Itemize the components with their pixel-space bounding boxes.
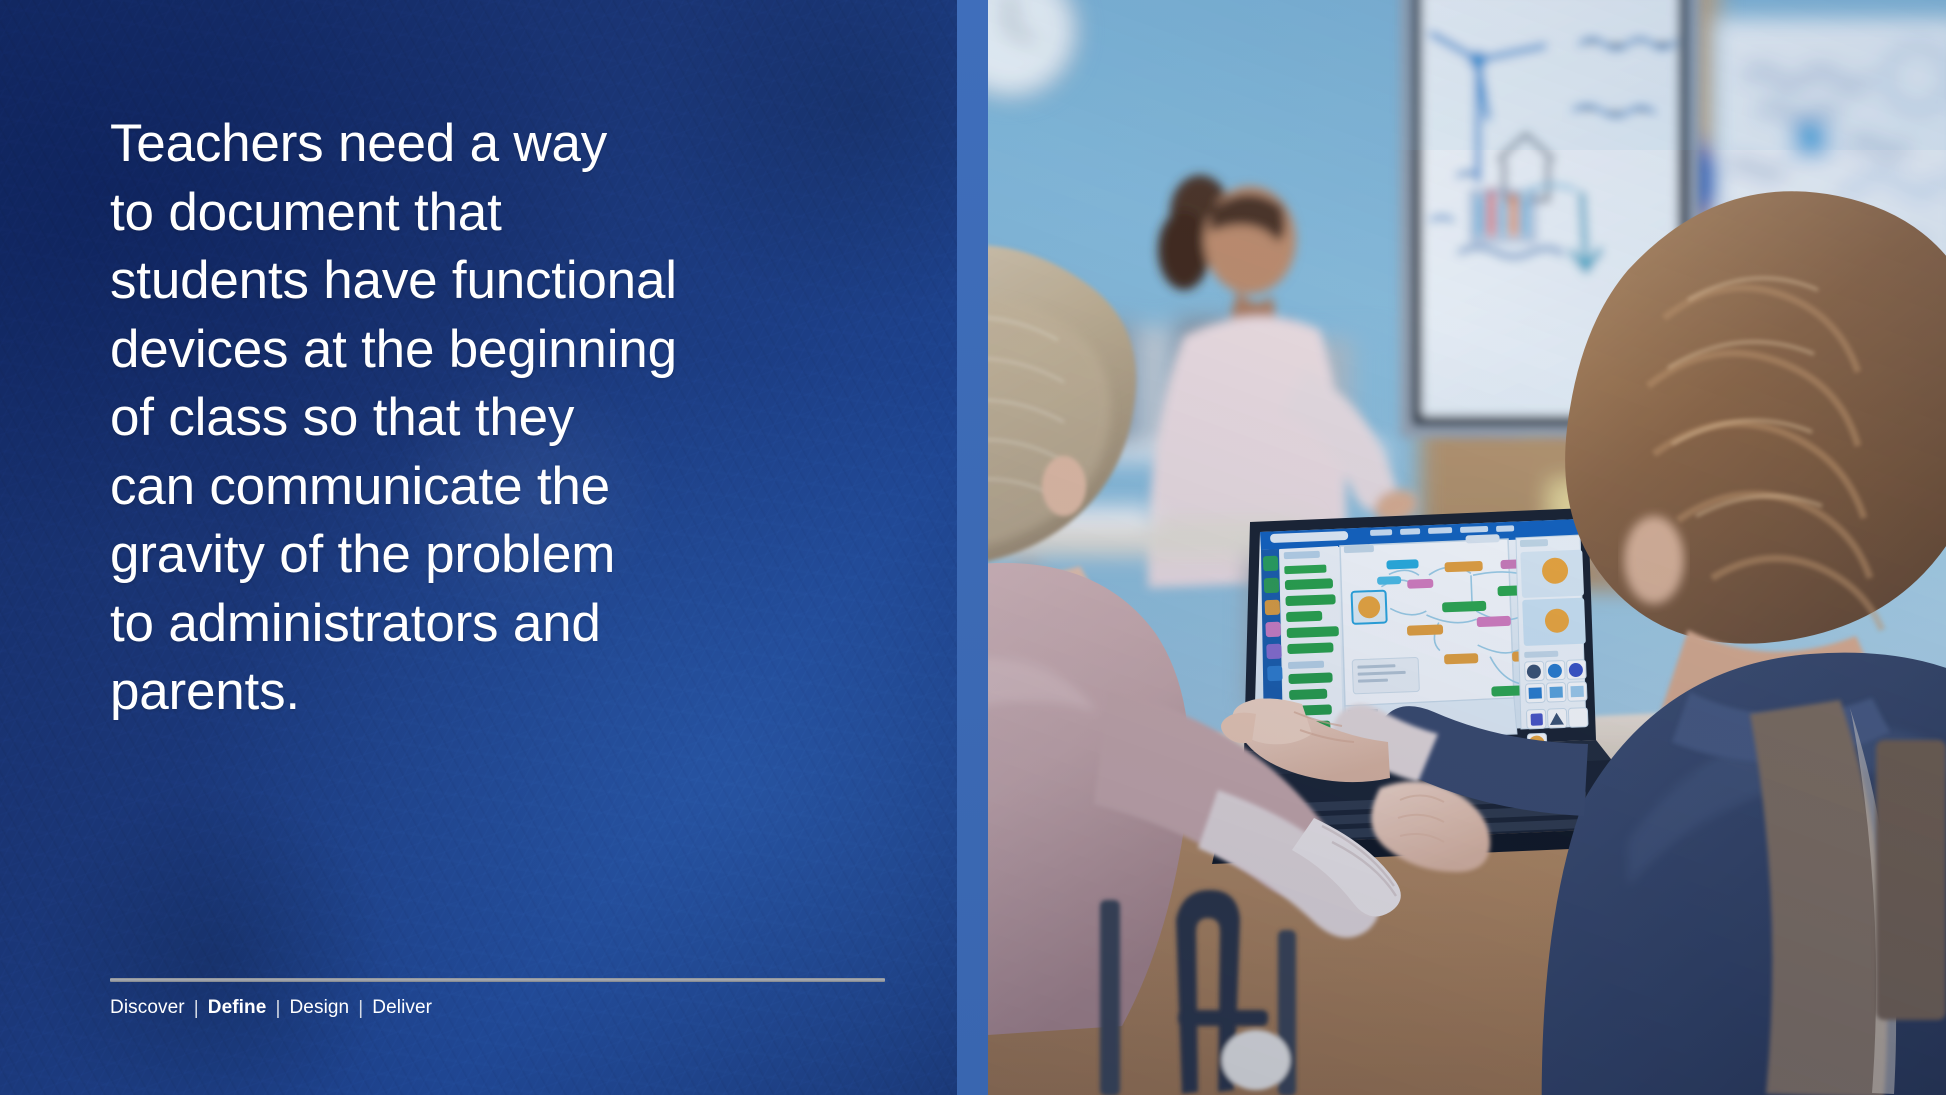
breadcrumb-separator: | — [266, 998, 289, 1020]
breadcrumb-item-deliver[interactable]: Deliver — [372, 997, 432, 1019]
breadcrumb-item-design[interactable]: Design — [289, 997, 349, 1019]
breadcrumb: Discover | Define | Design | Deliver — [110, 997, 885, 1019]
page-title: Teachers need a way to document that stu… — [110, 110, 810, 727]
breadcrumb-item-discover[interactable]: Discover — [110, 997, 185, 1019]
breadcrumb-separator: | — [349, 998, 372, 1020]
breadcrumb-item-define[interactable]: Define — [208, 997, 267, 1019]
footer-divider-rule — [110, 978, 885, 982]
breadcrumb-separator: | — [185, 998, 208, 1020]
classroom-photo — [988, 0, 1946, 1095]
classroom-photo-illustration — [988, 0, 1946, 1095]
left-content-panel: Teachers need a way to document that stu… — [0, 0, 957, 1095]
left-panel-inner: Teachers need a way to document that stu… — [0, 0, 957, 1095]
accent-stripe-divider — [957, 0, 988, 1095]
slide-root: Teachers need a way to document that stu… — [0, 0, 1946, 1095]
footer-block: Discover | Define | Design | Deliver — [110, 978, 885, 1019]
